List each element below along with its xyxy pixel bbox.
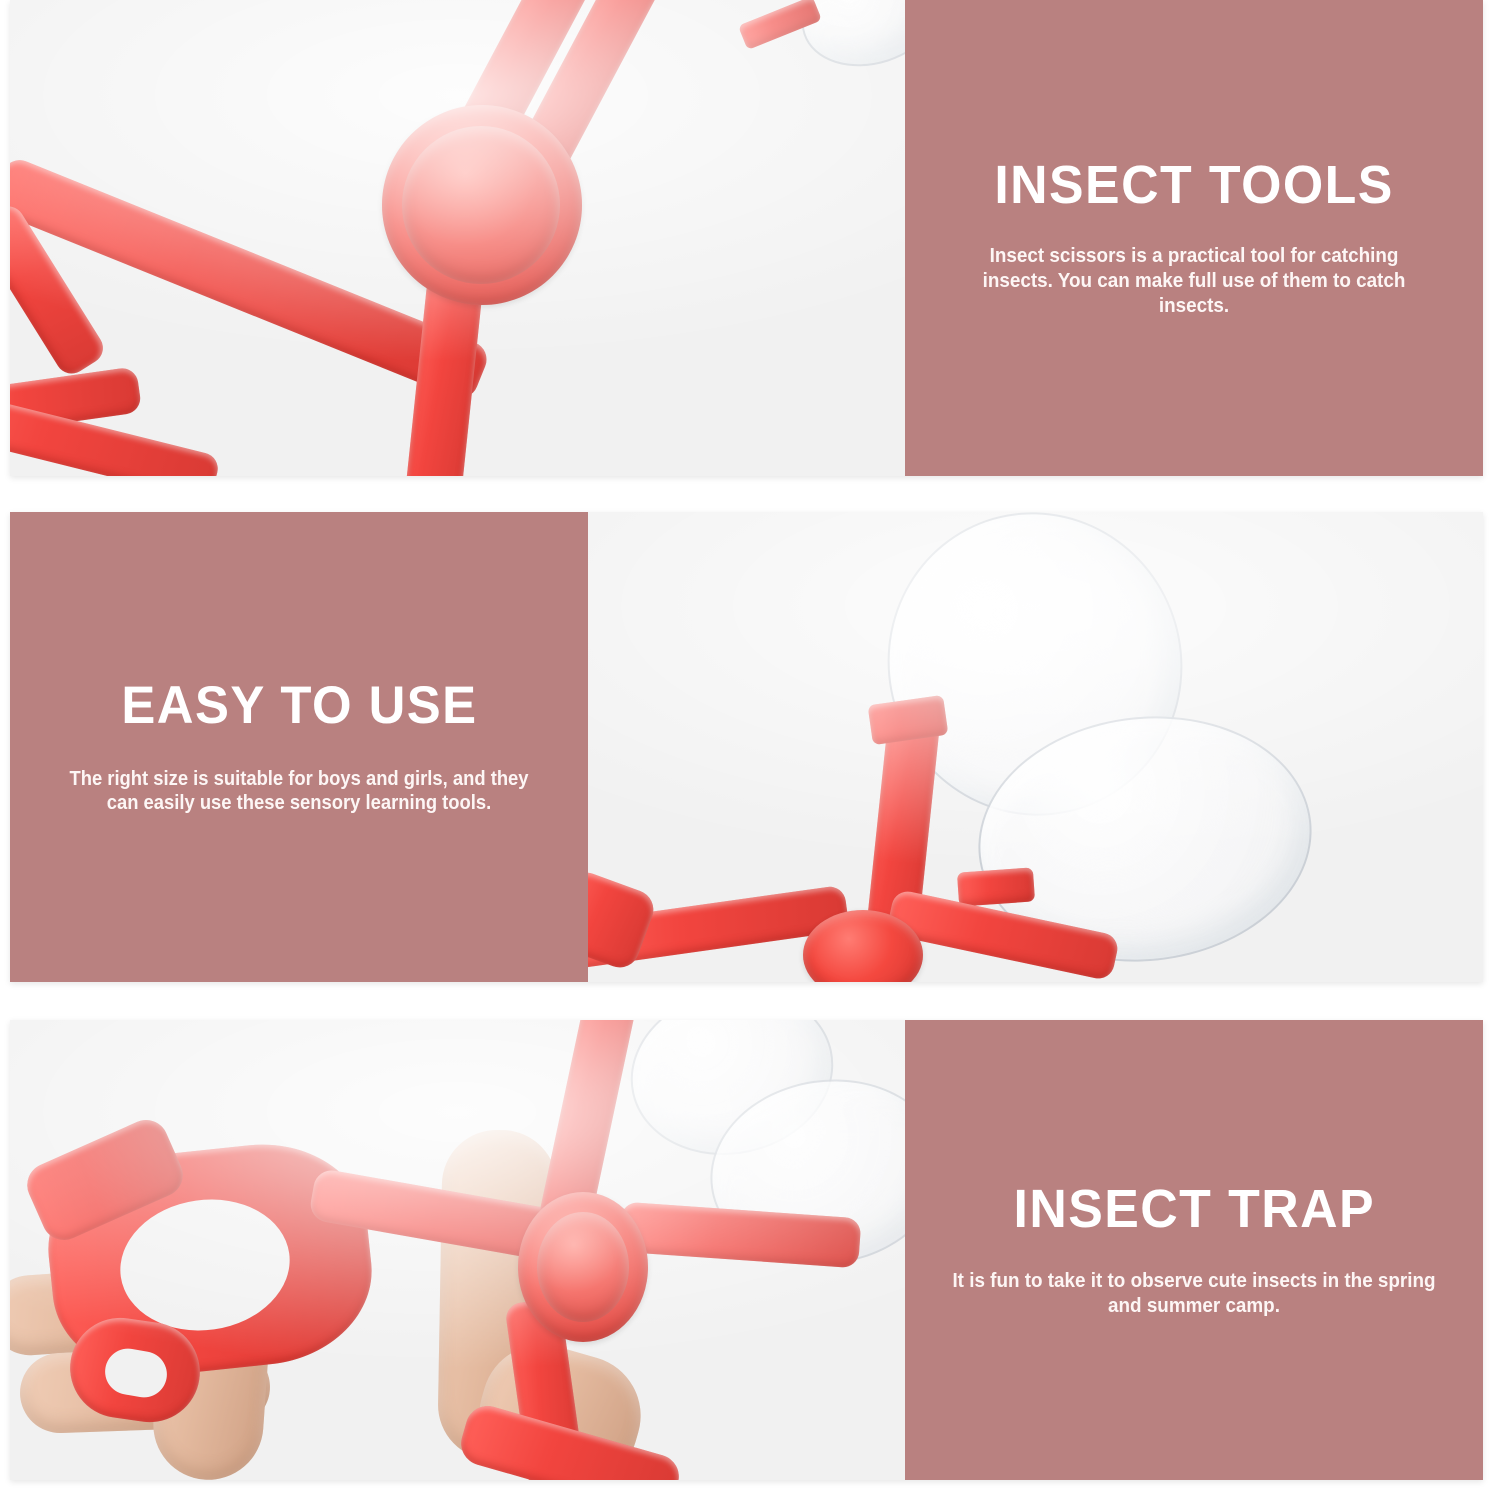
section-insect-trap: INSECT TRAP It is fun to take it to obse… bbox=[10, 1020, 1483, 1480]
text-panel-insect-tools: INSECT TOOLS Insect scissors is a practi… bbox=[905, 0, 1483, 476]
text-panel-insect-trap: INSECT TRAP It is fun to take it to obse… bbox=[905, 1020, 1483, 1480]
dome-clip-lower bbox=[957, 867, 1035, 906]
section-heading: INSECT TRAP bbox=[1013, 1182, 1374, 1237]
dome-scoops-illustration bbox=[588, 512, 1483, 982]
product-photo-dome-scoops bbox=[588, 512, 1483, 982]
section-heading: INSECT TOOLS bbox=[994, 158, 1393, 213]
pivot-hub-inner bbox=[402, 126, 560, 284]
hand-holding-illustration bbox=[10, 1020, 905, 1480]
scissors-pivot-illustration bbox=[10, 0, 905, 476]
section-insect-tools: INSECT TOOLS Insect scissors is a practi… bbox=[10, 0, 1483, 476]
section-body: Insect scissors is a practical tool for … bbox=[952, 243, 1436, 318]
product-photo-scissors-pivot bbox=[10, 0, 905, 476]
section-easy-to-use: EASY TO USE The right size is suitable f… bbox=[10, 512, 1483, 982]
text-panel-easy-to-use: EASY TO USE The right size is suitable f… bbox=[10, 512, 588, 982]
section-heading: EASY TO USE bbox=[121, 679, 477, 733]
section-body: The right size is suitable for boys and … bbox=[60, 767, 538, 816]
section-body: It is fun to take it to observe cute ins… bbox=[952, 1268, 1436, 1318]
product-photo-hand-holding bbox=[10, 1020, 905, 1480]
product-infographic: INSECT TOOLS Insect scissors is a practi… bbox=[0, 0, 1493, 1500]
pivot-hub-inner bbox=[537, 1212, 629, 1322]
